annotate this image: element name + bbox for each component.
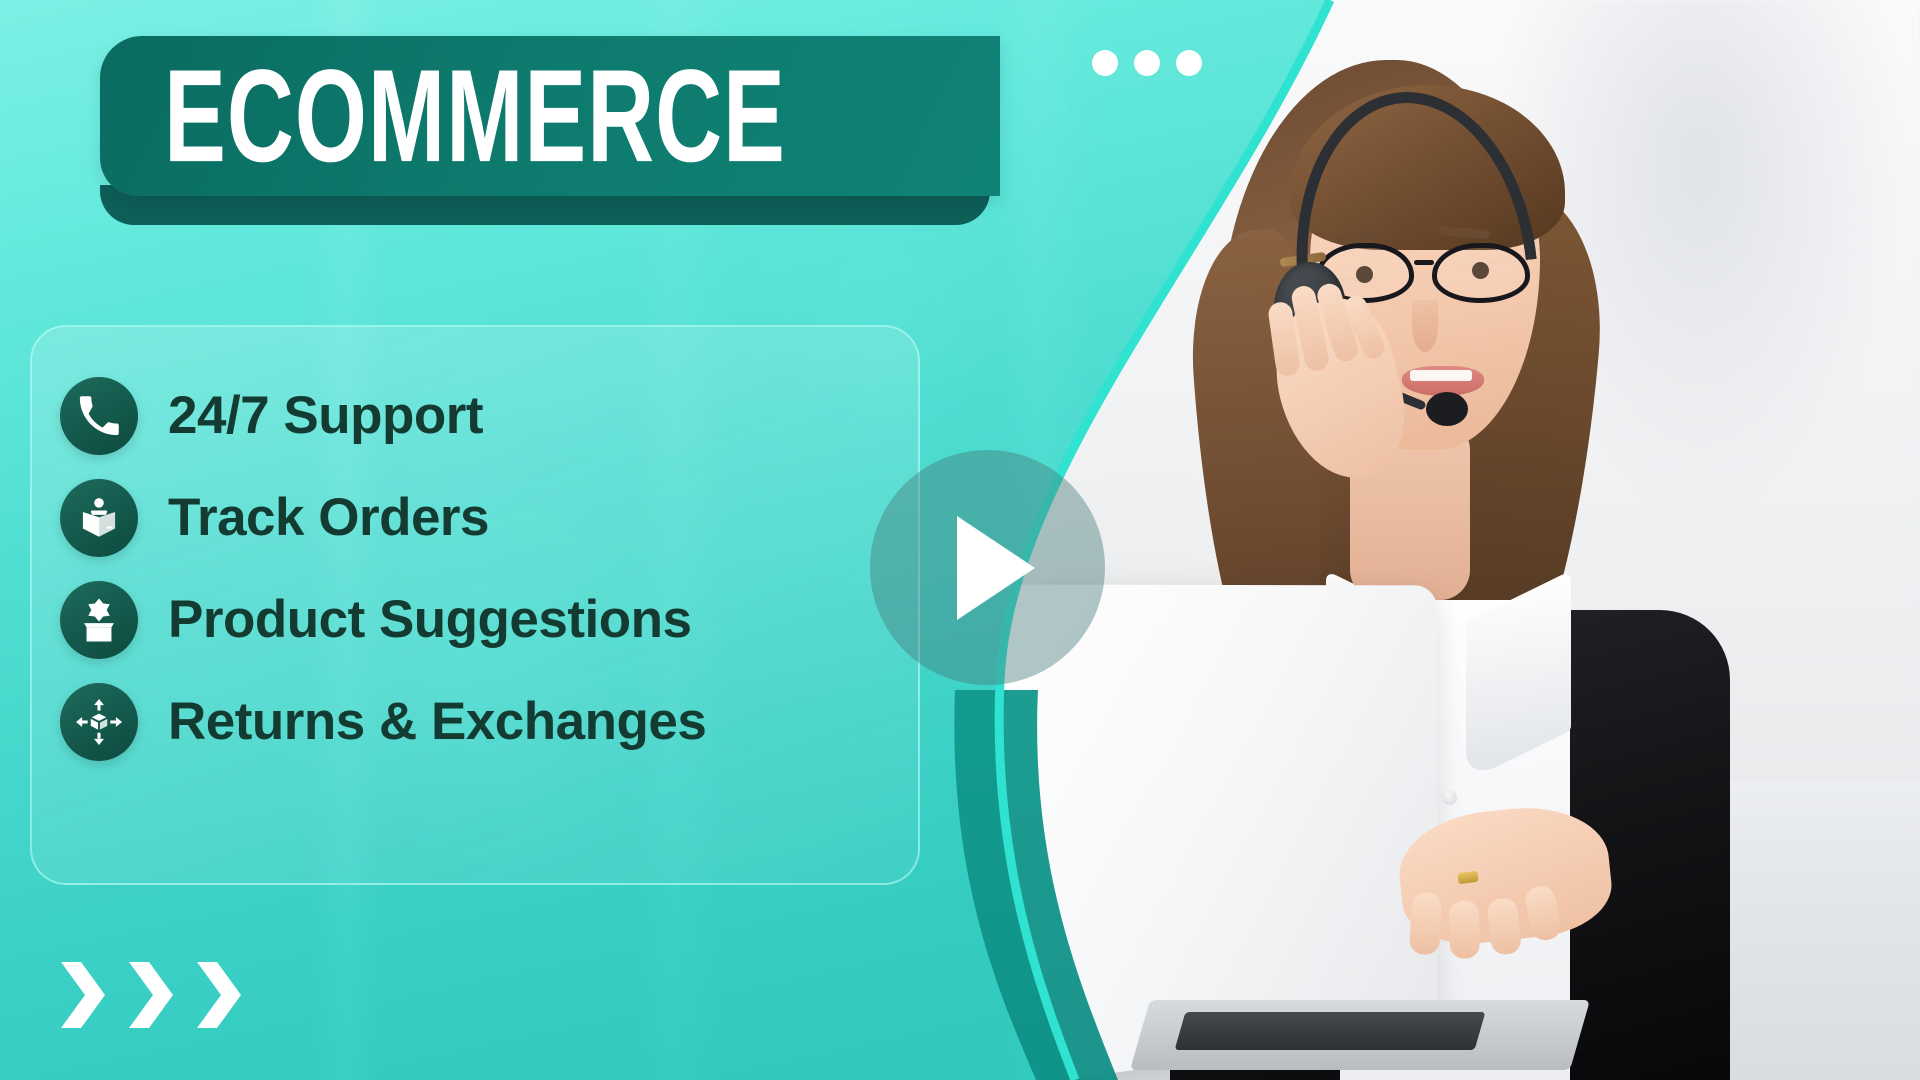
feature-label: Returns & Exchanges (168, 691, 706, 752)
dot-icon (1176, 50, 1202, 76)
feature-item-support[interactable]: 24/7 Support (60, 365, 940, 466)
chevron-right-icon (55, 960, 111, 1035)
chevron-arrows-decoration (55, 960, 247, 1035)
chevron-right-icon (123, 960, 179, 1035)
feature-label: Product Suggestions (168, 589, 691, 650)
feature-label: 24/7 Support (168, 385, 483, 446)
feature-item-product-suggestions[interactable]: Product Suggestions (60, 569, 940, 670)
feature-item-returns-exchanges[interactable]: Returns & Exchanges (60, 671, 940, 772)
title-banner: ECOMMERCE (100, 36, 1000, 196)
page-title: ECOMMERCE (164, 50, 786, 182)
play-triangle-icon (957, 516, 1035, 620)
box-arrows-icon (60, 683, 138, 761)
package-person-icon (60, 479, 138, 557)
dot-icon (1092, 50, 1118, 76)
three-dots-decoration (1092, 50, 1202, 76)
play-button[interactable] (870, 450, 1105, 685)
feature-list: 24/7 Support Track Orders (60, 365, 940, 773)
phone-icon (60, 377, 138, 455)
banner-stage: ECOMMERCE 24/7 Support (0, 0, 1920, 1080)
star-box-icon (60, 581, 138, 659)
dot-icon (1134, 50, 1160, 76)
feature-item-track-orders[interactable]: Track Orders (60, 467, 940, 568)
chevron-right-icon (191, 960, 247, 1035)
feature-label: Track Orders (168, 487, 489, 548)
